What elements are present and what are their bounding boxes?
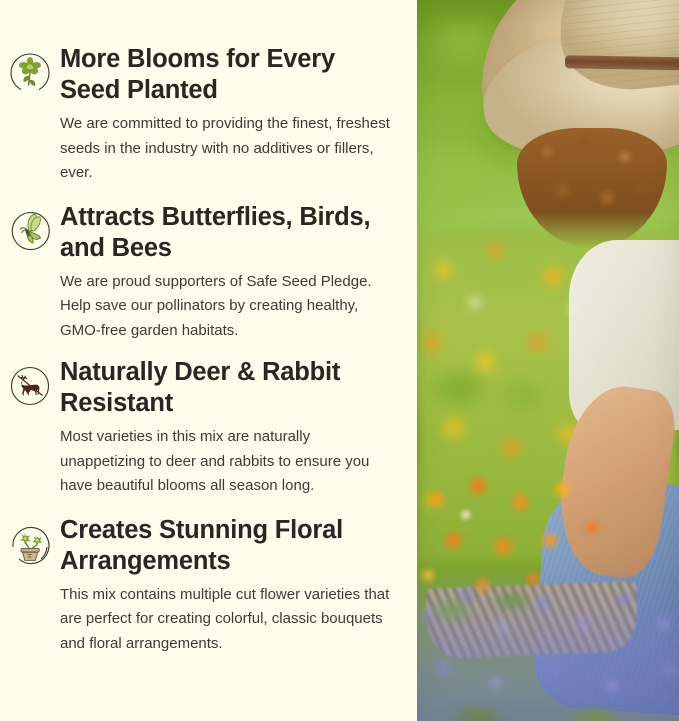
feature-description: Most varieties in this mix are naturally… [60,425,399,499]
feature-text-block: Naturally Deer & Rabbit Resistant Most v… [60,357,405,499]
feature-description: We are committed to providing the finest… [60,112,399,186]
feature-title: More Blooms for Every Seed Planted [60,44,399,106]
feature-description: This mix contains multiple cut flower va… [60,583,399,657]
lifestyle-photo [417,0,679,721]
no-deer-icon [4,357,56,413]
feature-item-floral-arrangements: Creates Stunning Floral Arrangements Thi… [4,515,405,657]
feature-title: Naturally Deer & Rabbit Resistant [60,357,399,419]
feature-description: We are proud supporters of Safe Seed Ple… [60,270,399,344]
feature-item-attracts-pollinators: Attracts Butterflies, Birds, and Bees We… [4,202,405,344]
flower-bloom-icon [4,44,56,100]
feature-item-more-blooms: More Blooms for Every Seed Planted We ar… [4,44,405,186]
feature-text-block: Attracts Butterflies, Birds, and Bees We… [60,202,405,344]
feature-item-deer-rabbit-resistant: Naturally Deer & Rabbit Resistant Most v… [4,357,405,499]
product-feature-panel: More Blooms for Every Seed Planted We ar… [0,0,679,721]
features-list: More Blooms for Every Seed Planted We ar… [0,0,417,721]
purple-foreground-flowers [417,563,679,721]
feature-title: Creates Stunning Floral Arrangements [60,515,399,577]
feature-text-block: Creates Stunning Floral Arrangements Thi… [60,515,405,657]
feature-title: Attracts Butterflies, Birds, and Bees [60,202,399,264]
feature-text-block: More Blooms for Every Seed Planted We ar… [60,44,405,186]
butterfly-icon [4,202,56,258]
potted-plant-icon [4,515,56,571]
